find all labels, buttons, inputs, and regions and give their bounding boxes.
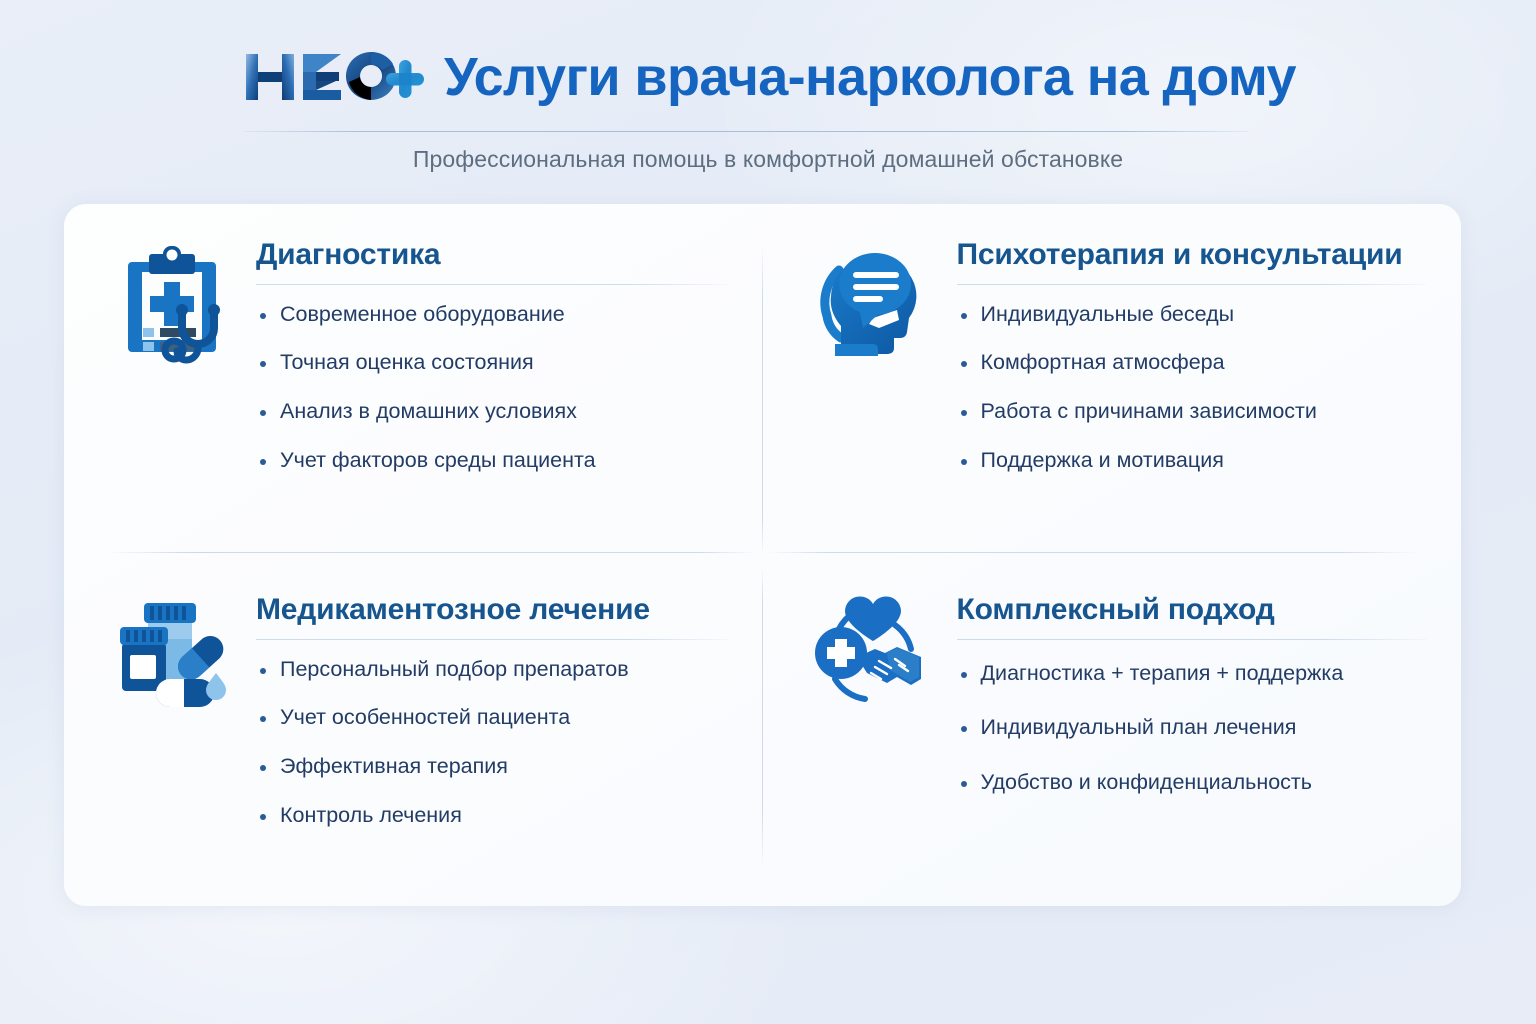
- list-item: Работа с причинами зависимости: [957, 398, 1428, 426]
- service-bullet-list: Современное оборудование Точная оценка с…: [256, 301, 729, 476]
- list-item: Точная оценка состояния: [256, 349, 729, 377]
- service-heading-underline: [957, 284, 1428, 285]
- page-header: Услуги врача-нарколога на дому Профессио…: [0, 0, 1536, 190]
- service-bullet-list: Персональный подбор препаратов Учет особ…: [256, 656, 729, 831]
- list-item: Учет особенностей пациента: [256, 704, 729, 732]
- service-content-complex-approach: Комплексный подход Диагностика + терапия…: [955, 587, 1428, 824]
- service-heading-underline: [256, 284, 729, 285]
- service-heading-underline: [256, 639, 729, 640]
- service-heading: Комплексный подход: [957, 593, 1428, 628]
- list-item: Индивидуальный план лечения: [957, 714, 1428, 742]
- header-title-row: Услуги врача-нарколога на дому: [0, 38, 1536, 116]
- service-heading: Диагностика: [256, 238, 729, 273]
- list-item: Удобство и конфиденциальность: [957, 769, 1428, 797]
- services-card: Диагностика Современное оборудование Точ…: [64, 204, 1461, 906]
- heart-handshake-cross-icon: [809, 587, 933, 719]
- list-item: Современное оборудование: [256, 301, 729, 329]
- service-heading: Медикаментозное лечение: [256, 593, 729, 628]
- service-content-medication: Медикаментозное лечение Персональный под…: [256, 587, 729, 830]
- list-item: Комфортная атмосфера: [957, 349, 1428, 377]
- list-item: Контроль лечения: [256, 802, 729, 830]
- service-heading-underline: [957, 639, 1428, 640]
- page-title: Услуги врача-нарколога на дому: [444, 50, 1296, 104]
- service-block-diagnostics: Диагностика Современное оборудование Точ…: [64, 204, 763, 555]
- service-heading: Психотерапия и консультации: [957, 238, 1428, 273]
- services-grid: Диагностика Современное оборудование Точ…: [64, 204, 1461, 906]
- list-item: Персональный подбор препаратов: [256, 656, 729, 684]
- service-bullet-list: Индивидуальные беседы Комфортная атмосфе…: [957, 301, 1428, 476]
- service-block-psychotherapy: Психотерапия и консультации Индивидуальн…: [763, 204, 1462, 555]
- list-item: Эффективная терапия: [256, 753, 729, 781]
- logo-letter-e: [303, 54, 341, 100]
- logo-letter-n: [246, 54, 294, 100]
- service-content-diagnostics: Диагностика Современное оборудование Точ…: [256, 232, 729, 475]
- service-content-psychotherapy: Психотерапия и консультации Индивидуальн…: [955, 232, 1428, 475]
- page-subtitle: Профессиональная помощь в комфортной дом…: [0, 146, 1536, 173]
- list-item: Диагностика + терапия + поддержка: [957, 660, 1428, 688]
- list-item: Индивидуальные беседы: [957, 301, 1428, 329]
- service-block-medication: Медикаментозное лечение Персональный под…: [64, 555, 763, 906]
- list-item: Анализ в домашних условиях: [256, 398, 729, 426]
- service-bullet-list: Диагностика + терапия + поддержка Индиви…: [957, 660, 1428, 798]
- pills-bottles-icon: [110, 587, 234, 719]
- service-block-complex-approach: Комплексный подход Диагностика + терапия…: [763, 555, 1462, 906]
- list-item: Учет факторов среды пациента: [256, 447, 729, 475]
- header-divider: [243, 131, 1248, 132]
- clipboard-stethoscope-icon: [110, 232, 234, 364]
- neo-plus-logo: [240, 46, 426, 108]
- head-speech-bubble-icon: [809, 232, 933, 364]
- list-item: Поддержка и мотивация: [957, 447, 1428, 475]
